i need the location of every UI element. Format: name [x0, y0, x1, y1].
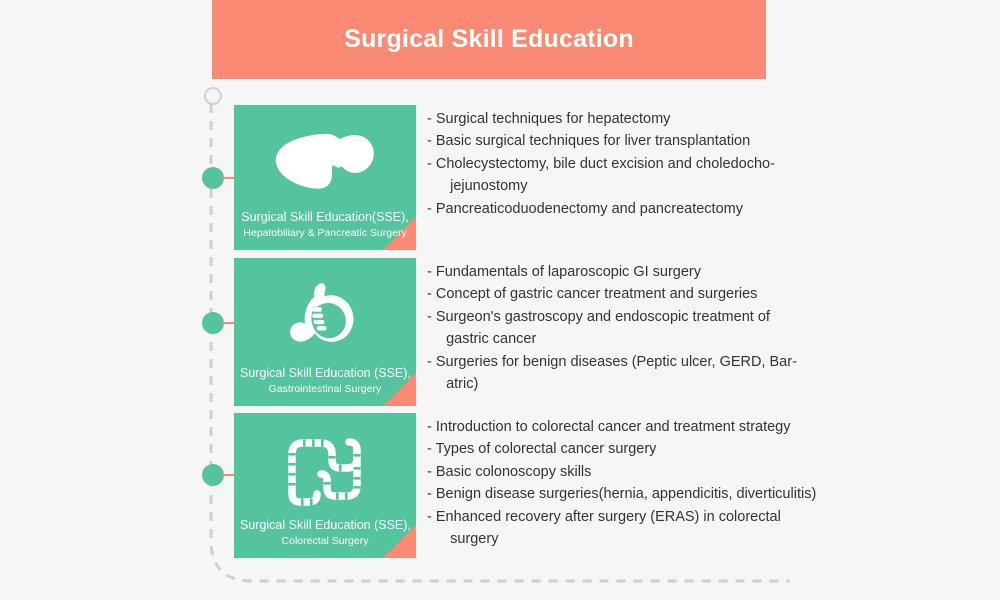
card-label-line2: Colorectal Surgery [240, 534, 410, 548]
infographic-page: Surgical Skill Education Surgical Skill … [0, 0, 1000, 600]
timeline-node-1 [202, 167, 224, 189]
bullet-list-hepatobiliary-pancreatic: - Surgical techniques for hepatectomy - … [427, 105, 1000, 220]
section-row-colorectal: Surgical Skill Education (SSE), Colorect… [234, 413, 1000, 558]
bullet-list-gastrointestinal: - Fundamentals of laparoscopic GI surger… [427, 258, 1000, 396]
timeline-node-2 [202, 312, 224, 334]
card-label: Surgical Skill Education (SSE), Gastroin… [234, 365, 416, 406]
bullet-item: - Surgeon's gastroscopy and endoscopic t… [427, 306, 1000, 351]
bullet-item: - Surgical techniques for hepatectomy [427, 108, 1000, 130]
card-label: Surgical Skill Education (SSE), Colorect… [234, 517, 416, 558]
bullet-item: - Basic colonoscopy skills [427, 461, 1000, 483]
bullet-item: - Types of colorectal cancer surgery [427, 438, 1000, 460]
section-card-colorectal[interactable]: Surgical Skill Education (SSE), Colorect… [234, 413, 416, 558]
bullet-item: - Concept of gastric cancer treatment an… [427, 283, 1000, 305]
bullet-item: - Basic surgical techniques for liver tr… [427, 130, 1000, 152]
section-row-hepatobiliary-pancreatic: Surgical Skill Education(SSE), Hepatobil… [234, 105, 1000, 250]
timeline-node-3 [202, 464, 224, 486]
section-card-hepatobiliary-pancreatic[interactable]: Surgical Skill Education(SSE), Hepatobil… [234, 105, 416, 250]
card-label-line1: Surgical Skill Education(SSE), [240, 209, 410, 225]
timeline-start-ring-icon [204, 87, 222, 105]
card-label-line1: Surgical Skill Education (SSE), [240, 365, 410, 381]
bullet-item: - Pancreaticoduodenectomy and pancreatec… [427, 198, 1000, 220]
bullet-item: - Enhanced recovery after surgery (ERAS)… [427, 506, 1000, 551]
page-title: Surgical Skill Education [344, 27, 634, 52]
colon-icon [279, 423, 371, 517]
card-label-line1: Surgical Skill Education (SSE), [240, 517, 410, 533]
liver-icon [271, 115, 379, 209]
bullet-list-colorectal: - Introduction to colorectal cancer and … [427, 413, 1000, 551]
card-label: Surgical Skill Education(SSE), Hepatobil… [234, 209, 416, 250]
header-banner: Surgical Skill Education [212, 0, 766, 79]
stomach-icon [288, 268, 362, 365]
card-label-line2: Hepatobiliary & Pancreatic Surgery [240, 226, 410, 240]
card-label-line2: Gastrointestinal Surgery [240, 382, 410, 396]
bullet-item: - Cholecystectomy, bile duct excision an… [427, 153, 1000, 198]
bullet-item: - Benign disease surgeries(hernia, appen… [427, 483, 1000, 505]
bullet-item: - Fundamentals of laparoscopic GI surger… [427, 261, 1000, 283]
bullet-item: - Introduction to colorectal cancer and … [427, 416, 1000, 438]
bullet-item: - Surgeries for benign diseases (Peptic … [427, 351, 1000, 396]
section-row-gastrointestinal: Surgical Skill Education (SSE), Gastroin… [234, 258, 1000, 406]
section-card-gastrointestinal[interactable]: Surgical Skill Education (SSE), Gastroin… [234, 258, 416, 406]
